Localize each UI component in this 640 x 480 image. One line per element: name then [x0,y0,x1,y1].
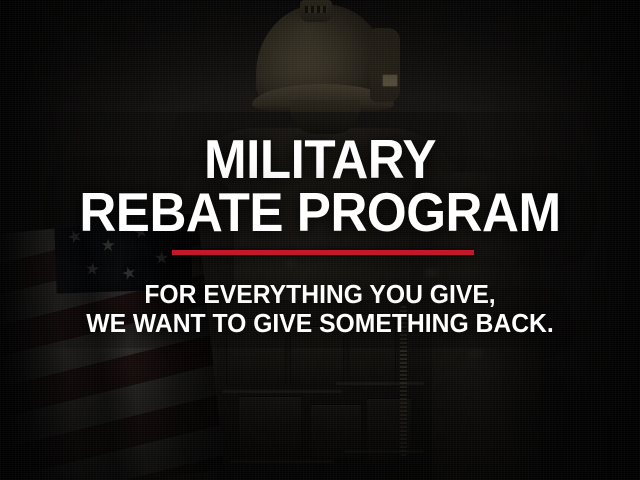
poster-content: MILITARY REBATE PROGRAM FOR EVERYTHING Y… [0,0,640,480]
tagline-line-1: FOR EVERYTHING YOU GIVE, [16,279,624,309]
tagline-line-2: WE WANT TO GIVE SOMETHING BACK. [16,308,624,338]
page-title-line-1: MILITARY [22,133,617,186]
page-title-line-2: REBATE PROGRAM [22,186,617,239]
red-divider [172,250,474,255]
military-rebate-program-poster: ★ ★ ★ ★ ★ ★ MILITARY REBATE PROGRAM FOR … [0,0,640,480]
